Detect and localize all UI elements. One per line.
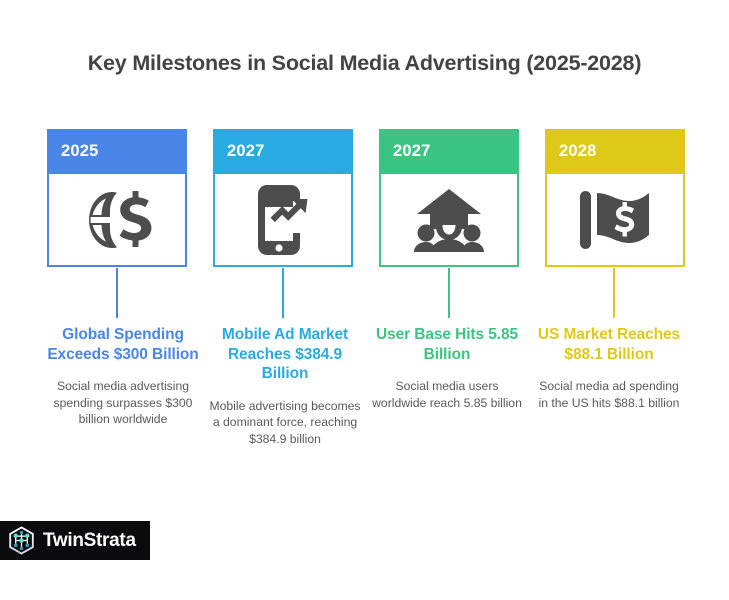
card-year-label: 2027	[227, 142, 265, 161]
people-up-arrow-icon	[413, 187, 485, 253]
milestone-card-row: 2025 2027	[47, 129, 685, 267]
milestone-headline: Global Spending Exceeds $300 Billion	[47, 325, 199, 364]
milestone-description: Social media advertising spending surpas…	[47, 378, 199, 428]
page-title: Key Milestones in Social Media Advertisi…	[0, 50, 729, 76]
icon-box-2027-users	[379, 174, 519, 267]
milestone-description: Social media ad spending in the US hits …	[533, 378, 685, 411]
milestone-text-row: Global Spending Exceeds $300 Billion Soc…	[47, 325, 685, 447]
card-header-2025: 2025	[47, 129, 187, 174]
globe-dollar-icon	[82, 187, 152, 253]
milestone-headline: US Market Reaches $88.1 Billion	[533, 325, 685, 364]
card-year-label: 2028	[559, 142, 597, 161]
card-header-2028: 2028	[545, 129, 685, 174]
milestone-card-2028[interactable]: 2028	[545, 129, 685, 267]
milestone-headline: Mobile Ad Market Reaches $384.9 Billion	[209, 325, 361, 384]
brand-logo[interactable]: TwinStrata	[0, 521, 150, 560]
smartphone-growth-chart-icon	[255, 185, 311, 255]
milestone-card-2027-mobile[interactable]: 2027	[213, 129, 353, 267]
brand-name: TwinStrata	[43, 530, 136, 552]
icon-box-2025	[47, 174, 187, 267]
milestone-description: Social media users worldwide reach 5.85 …	[371, 378, 523, 411]
connector-line-4	[613, 268, 615, 318]
milestone-text-2028: US Market Reaches $88.1 Billion Social m…	[533, 325, 685, 411]
connector-line-3	[448, 268, 450, 318]
card-year-label: 2025	[61, 142, 99, 161]
icon-box-2028	[545, 174, 685, 267]
milestone-description: Mobile advertising becomes a dominant fo…	[209, 398, 361, 448]
milestone-text-2027-users: User Base Hits 5.85 Billion Social media…	[371, 325, 523, 411]
milestone-text-2027-mobile: Mobile Ad Market Reaches $384.9 Billion …	[209, 325, 361, 447]
flag-dollar-icon	[577, 187, 653, 253]
milestone-card-2025[interactable]: 2025	[47, 129, 187, 267]
infographic-page: Key Milestones in Social Media Advertisi…	[0, 0, 729, 600]
milestone-text-2025: Global Spending Exceeds $300 Billion Soc…	[47, 325, 199, 428]
milestone-headline: User Base Hits 5.85 Billion	[371, 325, 523, 364]
card-header-2027-users: 2027	[379, 129, 519, 174]
connector-line-1	[116, 268, 118, 318]
milestone-card-2027-users[interactable]: 2027	[379, 129, 519, 267]
card-header-2027-mobile: 2027	[213, 129, 353, 174]
icon-box-2027-mobile	[213, 174, 353, 267]
hexagon-network-icon	[7, 526, 36, 555]
connector-line-2	[282, 268, 284, 318]
card-year-label: 2027	[393, 142, 431, 161]
